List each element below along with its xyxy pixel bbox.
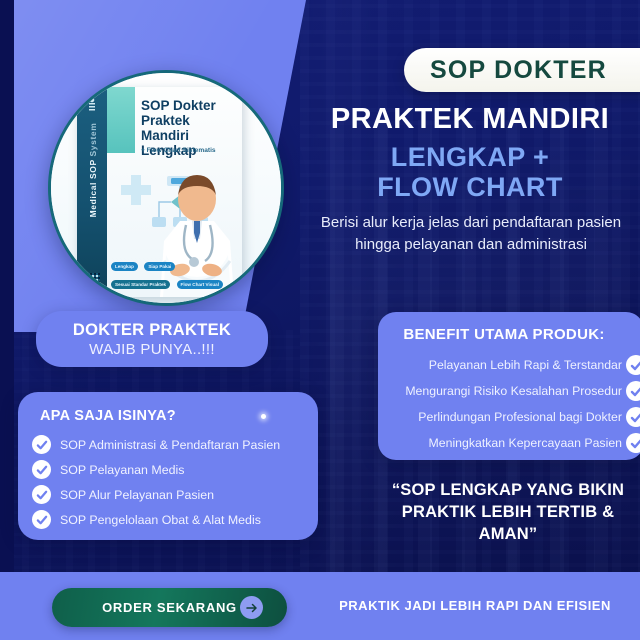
sparkle-icon	[261, 414, 266, 419]
product-image-circle: Medical SOP System SOP DokterPraktek Man…	[48, 70, 284, 306]
promo-poster: Medical SOP System SOP DokterPraktek Man…	[0, 0, 640, 640]
benefit-list-item: Meningkatkan Kepercayaan Pasien	[378, 430, 640, 456]
qr-code-icon	[84, 273, 100, 289]
product-box-spine: Medical SOP System	[77, 87, 107, 297]
contents-item-label: SOP Pelayanan Medis	[60, 463, 184, 477]
dokter-praktek-line1: DOKTER PRAKTEK	[73, 321, 231, 340]
product-badge: Sesuai Standar Praktek	[111, 280, 170, 288]
quote-text: “SOP LENGKAP YANG BIKIN PRAKTIK LEBIH TE…	[376, 480, 640, 545]
page-subtitle: LENGKAP +FLOW CHART	[300, 142, 640, 202]
dokter-praktek-line2: WAJIB PUNYA..!!!	[89, 341, 215, 358]
benefit-item-label: Meningkatkan Kepercayaan Pasien	[429, 436, 622, 450]
check-icon	[32, 435, 51, 454]
product-box: Medical SOP System SOP DokterPraktek Man…	[77, 87, 242, 297]
product-badge-list: Lengkap Siap Pakai Sesuai Standar Prakte…	[111, 255, 237, 291]
benefit-list-item: Perlindungan Profesional bagi Dokter	[378, 404, 640, 430]
page-title: PRAKTEK MANDIRI	[300, 103, 640, 136]
order-button[interactable]: ORDER SEKARANG	[52, 588, 287, 627]
benefit-item-label: Mengurangi Risiko Kesalahan Prosedur	[405, 384, 622, 398]
contents-item-label: SOP Alur Pelayanan Pasien	[60, 488, 214, 502]
left-edge-strip	[0, 0, 14, 580]
benefit-card: BENEFIT UTAMA PRODUK: Pelayanan Lebih Ra…	[378, 312, 640, 460]
check-icon	[32, 510, 51, 529]
sop-dokter-pill: SOP DOKTER	[404, 48, 640, 92]
check-icon	[32, 485, 51, 504]
product-box-spine-label: Medical SOP System	[88, 114, 98, 226]
contents-list-item: SOP Pengelolaan Obat & Alat Medis	[32, 507, 318, 532]
spine-label-dim: System	[88, 123, 98, 157]
product-badge: Flow Chart Visual	[177, 280, 223, 288]
product-box-subtitle: + Flow Chart Sistematis	[141, 147, 236, 154]
benefit-list-item: Mengurangi Risiko Kesalahan Prosedur	[378, 378, 640, 404]
order-button-label: ORDER SEKARANG	[102, 600, 237, 615]
contents-list: SOP Administrasi & Pendaftaran Pasien SO…	[32, 432, 318, 532]
benefit-list: Pelayanan Lebih Rapi & Terstandar Mengur…	[378, 352, 640, 456]
contents-card: APA SAJA ISINYA? SOP Administrasi & Pend…	[18, 392, 318, 540]
product-box-accent	[107, 87, 135, 153]
contents-list-item: SOP Pelayanan Medis	[32, 457, 318, 482]
benefit-card-title: BENEFIT UTAMA PRODUK:	[378, 326, 630, 343]
contents-item-label: SOP Pengelolaan Obat & Alat Medis	[60, 513, 261, 527]
product-badge: Lengkap	[111, 262, 138, 270]
check-icon	[626, 381, 640, 401]
medical-cross-icon	[121, 175, 151, 205]
contents-list-item: SOP Alur Pelayanan Pasien	[32, 482, 318, 507]
dokter-praktek-banner: DOKTER PRAKTEK WAJIB PUNYA..!!!	[36, 311, 268, 367]
benefit-list-item: Pelayanan Lebih Rapi & Terstandar	[378, 352, 640, 378]
spine-label-strong: Medical SOP	[88, 159, 98, 217]
contents-list-item: SOP Administrasi & Pendaftaran Pasien	[32, 432, 318, 457]
check-icon	[626, 433, 640, 453]
check-icon	[626, 355, 640, 375]
document-icon	[86, 97, 98, 113]
check-icon	[626, 407, 640, 427]
contents-item-label: SOP Administrasi & Pendaftaran Pasien	[60, 438, 280, 452]
sop-dokter-pill-label: SOP DOKTER	[430, 56, 607, 85]
footer-tagline: PRAKTIK JADI LEBIH RAPI DAN EFISIEN	[320, 598, 630, 613]
contents-card-title: APA SAJA ISINYA?	[40, 408, 176, 424]
benefit-item-label: Perlindungan Profesional bagi Dokter	[418, 410, 622, 424]
product-badge: Siap Pakai	[144, 262, 175, 270]
benefit-item-label: Pelayanan Lebih Rapi & Terstandar	[429, 358, 622, 372]
arrow-right-icon	[240, 596, 263, 619]
check-icon	[32, 460, 51, 479]
lead-paragraph: Berisi alur kerja jelas dari pendaftaran…	[306, 212, 636, 256]
